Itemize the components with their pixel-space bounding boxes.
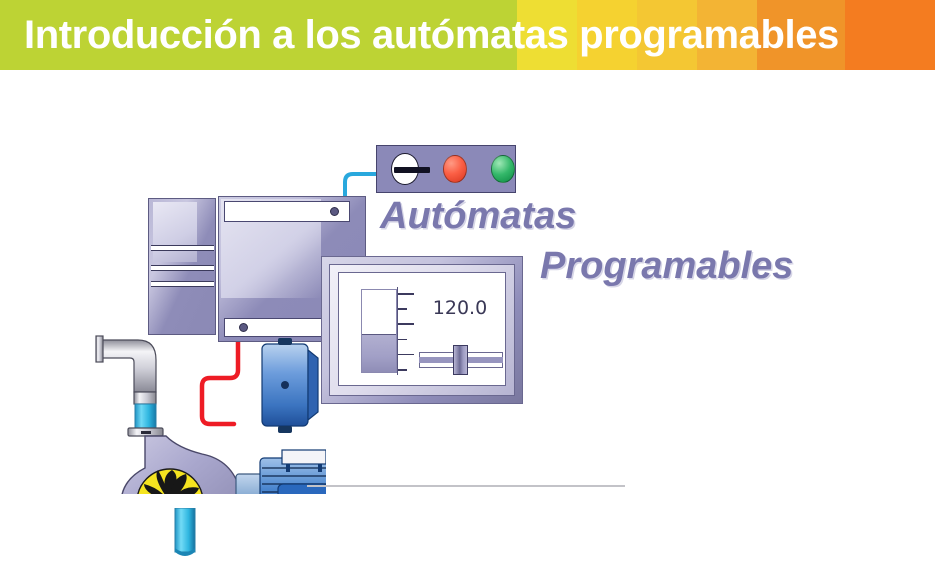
switch-lever — [394, 167, 430, 173]
slider-knob[interactable] — [453, 345, 468, 375]
hmi-value-readout: 120.0 — [417, 297, 503, 319]
hmi-display-panel[interactable]: 120.0 — [321, 256, 523, 404]
suction-flange-bolt — [141, 431, 151, 434]
gauge-tick — [398, 369, 407, 371]
page-title: Introducción a los autómatas programable… — [24, 0, 839, 70]
selector-switch-icon[interactable] — [391, 153, 419, 185]
motor-foot-top — [278, 338, 292, 345]
gauge-tick — [398, 293, 414, 295]
motor-coupler — [236, 474, 262, 494]
rack-glare — [153, 202, 197, 262]
electric-motor — [260, 450, 326, 494]
gauge-tick — [398, 339, 407, 341]
motor-foot-bottom — [278, 426, 292, 433]
gauge-tick — [398, 354, 414, 356]
rack-slot-1 — [151, 245, 214, 251]
footer-divider — [307, 485, 625, 487]
header-banner: Introducción a los autómatas programable… — [0, 0, 935, 70]
green-indicator-lamp[interactable] — [491, 155, 515, 183]
header-band-deep-orange — [845, 0, 935, 70]
red-indicator-lamp[interactable] — [443, 155, 467, 183]
caption-automatas: Autómatas — [380, 195, 576, 238]
gauge-tick — [398, 323, 414, 325]
operator-control-panel[interactable] — [376, 145, 516, 193]
plc-io-rack[interactable] — [148, 198, 216, 335]
gauge-scale — [397, 287, 419, 375]
hmi-screen[interactable]: 120.0 — [338, 272, 506, 386]
caption-programables: Programables — [540, 245, 793, 288]
bar-gauge — [361, 289, 397, 373]
motor-rear-housing — [260, 338, 322, 438]
rack-slot-3 — [151, 281, 214, 287]
hmi-slider-control[interactable] — [419, 345, 503, 375]
suction-water-column — [135, 404, 156, 428]
input-terminal-strip[interactable] — [224, 201, 350, 222]
suction-elbow-pipe — [96, 336, 156, 404]
gauge-tick — [398, 308, 407, 310]
input-port-dot[interactable] — [330, 207, 339, 216]
illustration-stage: 120.0 — [0, 70, 935, 494]
bar-gauge-fill — [362, 334, 396, 372]
rack-slot-2 — [151, 265, 214, 271]
discharge-water-pipe — [168, 508, 202, 564]
motor-nameplate — [282, 450, 326, 464]
